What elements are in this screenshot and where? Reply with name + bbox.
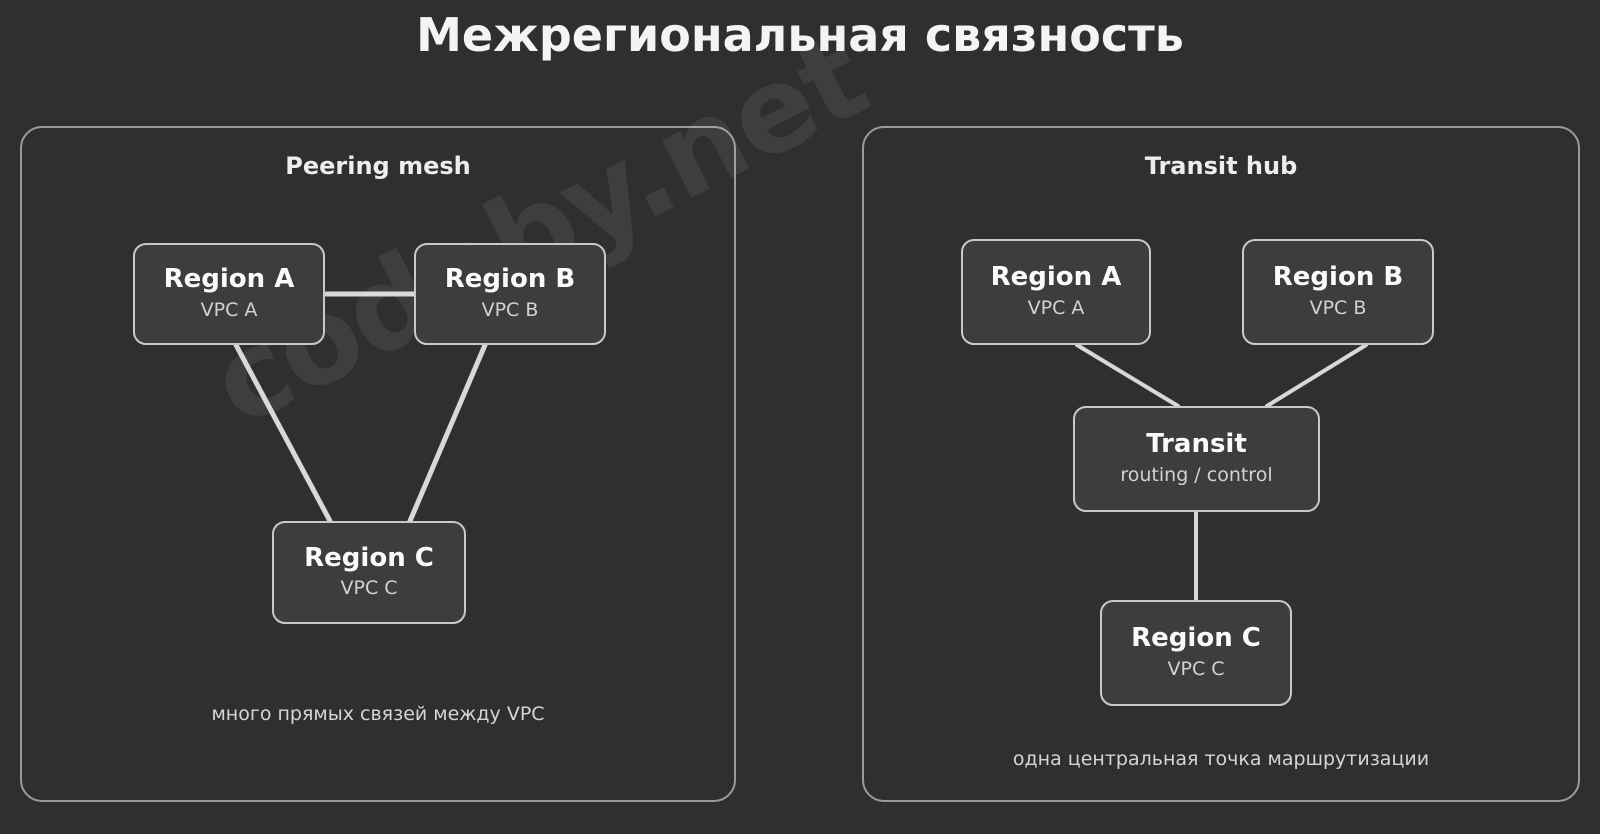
page-title: Межрегиональная связность [0, 8, 1600, 62]
panel-caption-transit-hub: одна центральная точка маршрутизации [864, 748, 1578, 770]
node-peering-region-a[interactable]: Region A VPC A [133, 243, 325, 345]
node-transit-hub[interactable]: Transit routing / control [1073, 406, 1320, 512]
node-subtitle: VPC A [1028, 296, 1085, 321]
node-subtitle: VPC B [1310, 296, 1367, 321]
node-transit-region-c[interactable]: Region C VPC C [1100, 600, 1292, 706]
node-subtitle: routing / control [1120, 463, 1272, 488]
node-subtitle: VPC C [340, 576, 397, 601]
node-subtitle: VPC A [201, 298, 258, 323]
node-title: Region B [1273, 263, 1403, 292]
node-subtitle: VPC B [482, 298, 539, 323]
node-peering-region-c[interactable]: Region C VPC C [272, 521, 466, 624]
panel-caption-peering-mesh: много прямых связей между VPC [22, 703, 734, 725]
panel-header-transit-hub: Transit hub [864, 152, 1578, 180]
panel-peering-mesh: Peering mesh много прямых связей между V… [20, 126, 736, 802]
panel-header-peering-mesh: Peering mesh [22, 152, 734, 180]
node-title: Region B [445, 265, 575, 294]
node-title: Region C [304, 544, 434, 573]
diagram-canvas: Межрегиональная связность codeby.net Pee… [0, 0, 1600, 834]
node-title: Region C [1131, 624, 1261, 653]
node-peering-region-b[interactable]: Region B VPC B [414, 243, 606, 345]
node-transit-region-a[interactable]: Region A VPC A [961, 239, 1151, 345]
node-transit-region-b[interactable]: Region B VPC B [1242, 239, 1434, 345]
node-title: Transit [1146, 430, 1247, 459]
node-title: Region A [991, 263, 1122, 292]
node-subtitle: VPC C [1167, 657, 1224, 682]
node-title: Region A [164, 265, 295, 294]
